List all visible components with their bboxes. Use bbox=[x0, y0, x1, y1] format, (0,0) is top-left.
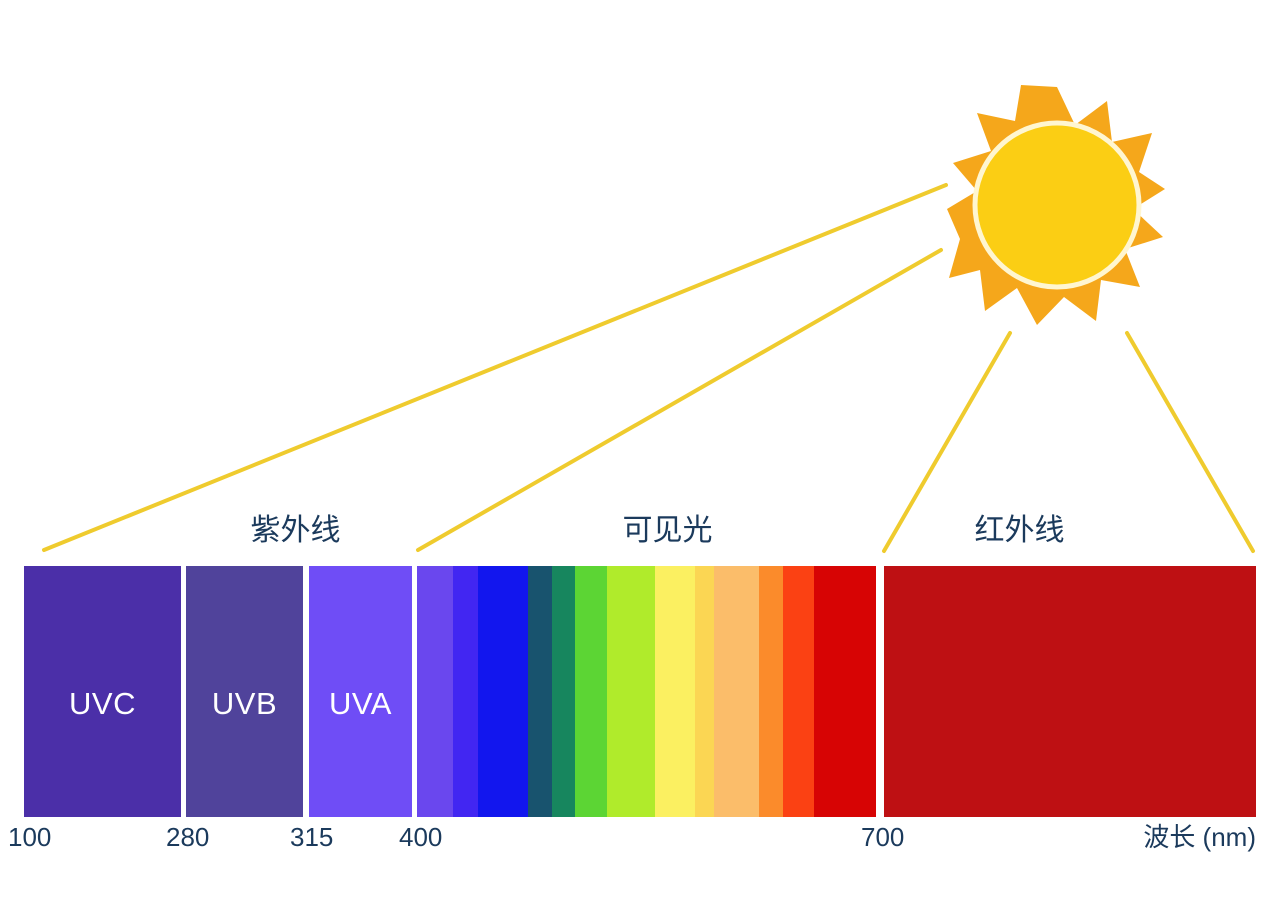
spectrum-stripe-9 bbox=[714, 566, 759, 817]
axis-tick-400: 400 bbox=[399, 824, 442, 850]
band-uva[interactable]: UVA bbox=[309, 566, 412, 817]
axis-tick-700: 700 bbox=[861, 824, 904, 850]
spectrum-stripe-11 bbox=[783, 566, 814, 817]
sun-ray-uv bbox=[44, 185, 946, 550]
spectrum-stripe-6 bbox=[607, 566, 655, 817]
band-label-uvc: UVC bbox=[24, 688, 181, 719]
group-label-visible: 可见光 bbox=[545, 516, 790, 546]
axis-tick-100: 100 bbox=[8, 824, 51, 850]
band-label-uva: UVA bbox=[309, 688, 412, 719]
sun-ray-visible bbox=[418, 250, 941, 550]
band-visible-spectrum[interactable] bbox=[417, 566, 876, 817]
spectrum-stripe-5 bbox=[575, 566, 607, 817]
spectrum-stripe-10 bbox=[759, 566, 783, 817]
spectrum-stripe-7 bbox=[655, 566, 695, 817]
spectrum-stripe-8 bbox=[695, 566, 714, 817]
sun-ray-ir-right bbox=[1127, 333, 1253, 551]
spectrum-diagram: 紫外线 可见光 红外线 UVC UVB UVA 100 280 315 400 … bbox=[0, 0, 1280, 923]
band-uvc[interactable]: UVC bbox=[24, 566, 181, 817]
spectrum-stripe-4 bbox=[552, 566, 575, 817]
group-label-infrared: 红外线 bbox=[912, 516, 1127, 546]
sun-disc-shape bbox=[975, 123, 1139, 287]
spectrum-stripe-3 bbox=[528, 566, 552, 817]
band-uvb[interactable]: UVB bbox=[186, 566, 303, 817]
sun-icon bbox=[947, 85, 1167, 325]
spectrum-stripe-2 bbox=[478, 566, 528, 817]
axis-tick-280: 280 bbox=[166, 824, 209, 850]
spectrum-stripe-0 bbox=[417, 566, 453, 817]
axis-title-wavelength: 波长 (nm) bbox=[1143, 824, 1256, 850]
band-label-uvb: UVB bbox=[186, 688, 303, 719]
group-label-uv: 紫外线 bbox=[188, 516, 403, 546]
spectrum-stripe-12 bbox=[814, 566, 876, 817]
band-infrared[interactable] bbox=[884, 566, 1256, 817]
spectrum-stripe-1 bbox=[453, 566, 478, 817]
axis-tick-315: 315 bbox=[290, 824, 333, 850]
